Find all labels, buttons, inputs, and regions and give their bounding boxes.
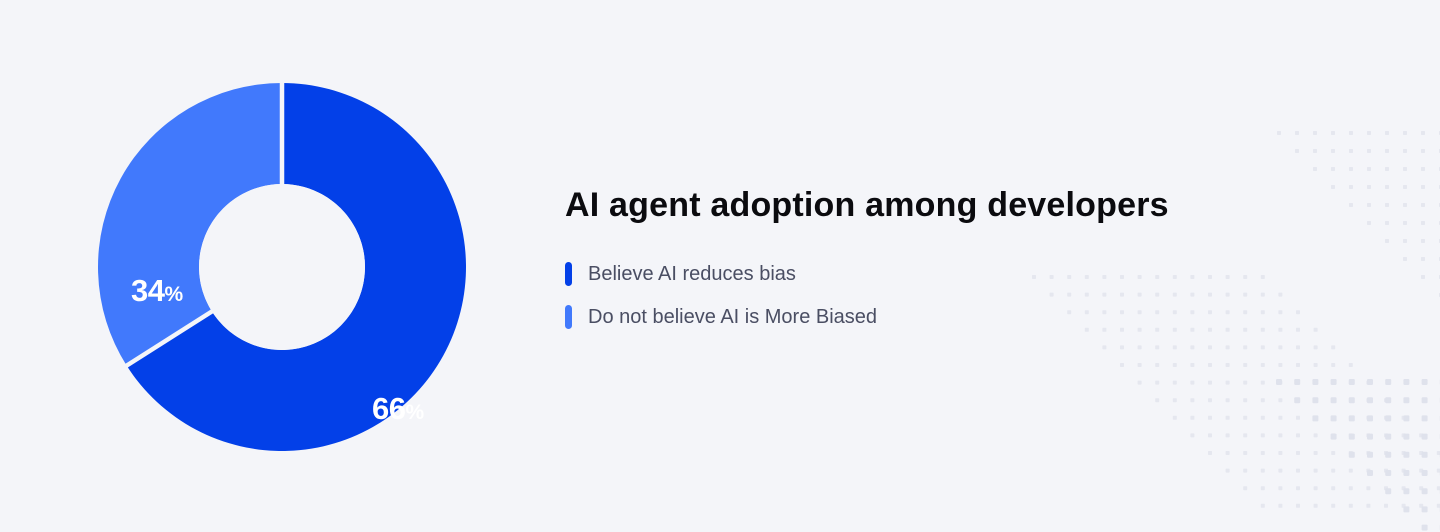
slice-label-66: 66% <box>372 393 424 424</box>
slice-percent-symbol-66: % <box>405 401 423 424</box>
infographic-canvas: 34% 66% AI agent adoption among develope… <box>0 0 1440 532</box>
slice-label-34: 34% <box>131 275 183 306</box>
legend-label-believe-ai-reduces-bias: Believe AI reduces bias <box>588 264 796 284</box>
legend-item-do-not-believe-ai-is-more-biased[interactable]: Do not believe AI is More Biased <box>565 305 1285 329</box>
legend-label-do-not-believe-ai-is-more-biased: Do not believe AI is More Biased <box>588 307 877 327</box>
slice-value-34: 34 <box>131 273 164 308</box>
legend-swatch-light-blue <box>565 305 572 329</box>
slice-value-66: 66 <box>372 391 405 426</box>
bottom-right-dot-grid <box>1276 379 1440 531</box>
chart-title: AI agent adoption among developers <box>565 186 1285 224</box>
slice-percent-symbol-34: % <box>164 283 182 306</box>
chart-content-panel: AI agent adoption among developers Belie… <box>565 186 1285 329</box>
legend-item-believe-ai-reduces-bias[interactable]: Believe AI reduces bias <box>565 262 1285 286</box>
legend-swatch-dark-blue <box>565 262 572 286</box>
donut-center-hole <box>199 184 365 350</box>
donut-chart: 34% 66% <box>98 83 466 451</box>
top-right-dot-grid <box>1277 131 1440 297</box>
chart-legend: Believe AI reduces bias Do not believe A… <box>565 262 1285 329</box>
